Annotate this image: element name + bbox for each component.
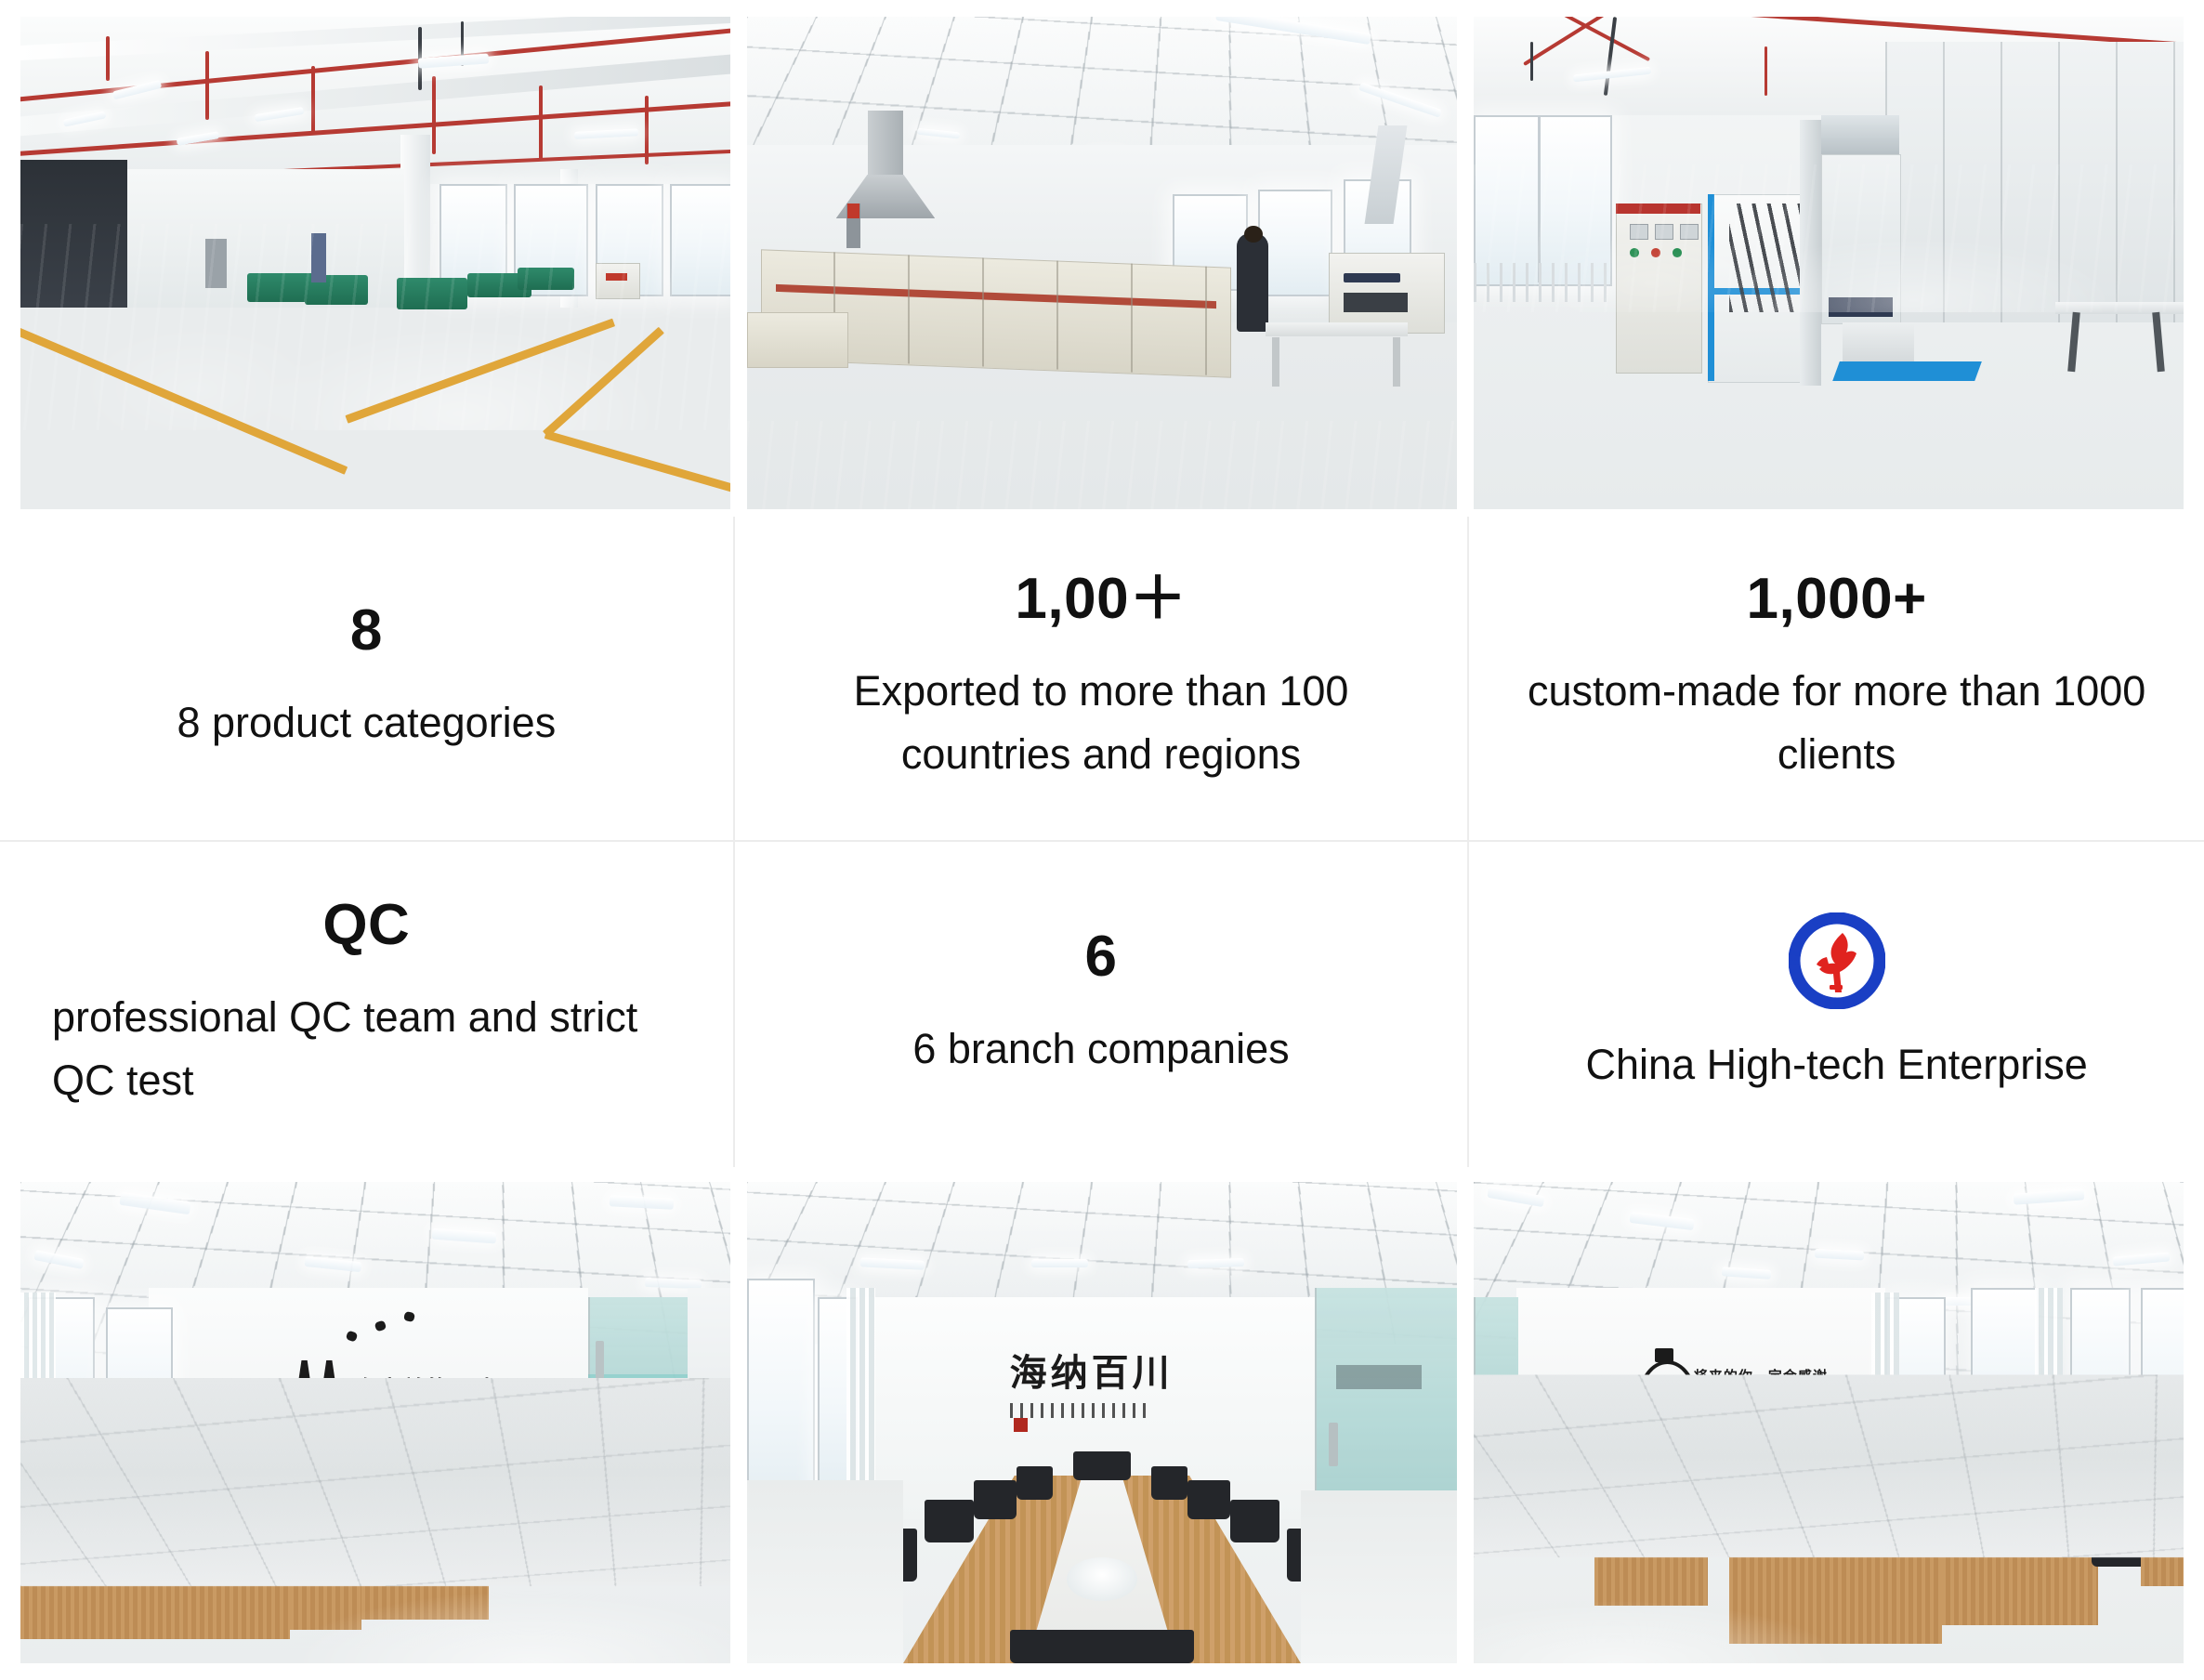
stat-cell-export-countries: 1,00＋ Exported to more than 100 countrie… — [735, 517, 1470, 842]
stat-value: 1,000+ — [1746, 571, 1926, 628]
worker — [1237, 233, 1268, 332]
stopwatch-crown-icon — [1655, 1348, 1673, 1363]
wall-calligraphy-text: 海纳百川 — [1010, 1351, 1174, 1395]
pipe-drop — [645, 96, 649, 164]
door-handle — [1329, 1423, 1337, 1466]
stat-value: 8 — [350, 602, 383, 660]
stat-label: 8 product categories — [177, 691, 556, 755]
work-table-top — [1266, 322, 1408, 337]
furnace-base-block — [1843, 322, 1913, 361]
exhaust-duct — [868, 111, 903, 185]
pipe-drop — [1765, 46, 1767, 96]
stat-label: China High-tech Enterprise — [1586, 1033, 2088, 1096]
tile-floor-right — [1301, 1490, 1457, 1663]
andon-light — [847, 203, 859, 218]
wall-calligraphy: 海纳百川 — [1010, 1355, 1174, 1392]
stat-cell-custom-made-clients: 1,000+ custom-made for more than 1000 cl… — [1469, 517, 2204, 842]
factory-workshop-production-line-image[interactable] — [20, 17, 730, 509]
pipe-drop — [539, 85, 543, 160]
office-chair — [1230, 1500, 1279, 1543]
stat-label: professional QC team and strict QC test — [52, 986, 681, 1113]
glass-decal-text — [1336, 1365, 1422, 1389]
stat-label: Exported to more than 100 countries and … — [787, 660, 1416, 787]
oven-brand-label — [1344, 273, 1400, 283]
office-chair — [1017, 1466, 1052, 1500]
stat-cell-china-high-tech-enterprise: China High-tech Enterprise — [1469, 842, 2204, 1167]
table-leg — [1393, 337, 1400, 387]
bottom-image-gallery: 只有完美的团队 没有完美的个人 — [20, 1182, 2184, 1663]
calligraphy-seal — [1014, 1418, 1028, 1433]
office-chair-foreground — [1010, 1630, 1195, 1663]
office-chair — [1187, 1480, 1230, 1518]
company-capability-page: 8 8 product categories 1,00＋ Exported to… — [0, 0, 2204, 1680]
pipe-drop-dark — [1530, 42, 1533, 81]
curtain — [846, 1288, 875, 1509]
floor-reflection — [20, 224, 730, 431]
top-image-gallery — [20, 17, 2184, 509]
window — [747, 1279, 815, 1514]
office-chair — [1073, 1451, 1130, 1480]
floor-reflection — [747, 421, 1457, 509]
floor-reflection — [1474, 1500, 2184, 1663]
worker-head — [1244, 226, 1263, 243]
pipe-drop — [205, 51, 209, 120]
floor-reflection — [20, 1490, 730, 1663]
ceiling-light — [1031, 1259, 1088, 1267]
tile-floor-left — [747, 1480, 903, 1663]
table-leg — [1272, 337, 1279, 387]
pipe-drop — [432, 76, 436, 155]
furnace-trolley-rail — [1832, 361, 1982, 381]
office-chair — [925, 1500, 974, 1543]
furnace-inlet — [747, 312, 848, 368]
stat-label: 6 branch companies — [912, 1017, 1289, 1081]
vertical-furnace-equipment-image[interactable] — [1474, 17, 2184, 509]
oven-window — [1344, 293, 1408, 312]
office-chair — [1151, 1466, 1187, 1500]
office-workstations-time-decal-image[interactable]: Time 将来的你一定会感谢 现在奋斗的自己 — [1474, 1182, 2184, 1663]
hoist-head — [1821, 115, 1899, 154]
floor-reflection — [1474, 164, 2184, 312]
pipe-drop — [106, 36, 110, 81]
open-plan-office-teamwork-slogan-image[interactable]: 只有完美的团队 没有完美的个人 — [20, 1182, 730, 1663]
meeting-room-conference-table-image[interactable]: 海纳百川 — [747, 1182, 1457, 1663]
tunnel-furnace-production-line-image[interactable] — [747, 17, 1457, 509]
ceiling-light — [645, 1278, 702, 1289]
calligraphy-inscription — [1010, 1403, 1152, 1418]
stat-cell-product-categories: 8 8 product categories — [0, 517, 735, 842]
china-high-tech-enterprise-logo-icon — [1789, 912, 1885, 1009]
ceiling-light — [1814, 1248, 1864, 1260]
stat-label: custom-made for more than 1000 clients — [1506, 660, 2167, 787]
window — [1258, 190, 1332, 296]
stat-value: 1,00＋ — [1015, 571, 1187, 628]
glass-bowl — [1067, 1557, 1137, 1601]
stat-cell-branch-companies: 6 6 branch companies — [735, 842, 1470, 1167]
stats-table: 8 8 product categories 1,00＋ Exported to… — [0, 517, 2204, 1167]
office-chair — [974, 1480, 1017, 1518]
stat-cell-qc-team: QC professional QC team and strict QC te… — [0, 842, 735, 1167]
stat-value: 6 — [1085, 928, 1118, 986]
pipe-drop — [311, 66, 315, 135]
stat-value: QC — [322, 897, 410, 954]
